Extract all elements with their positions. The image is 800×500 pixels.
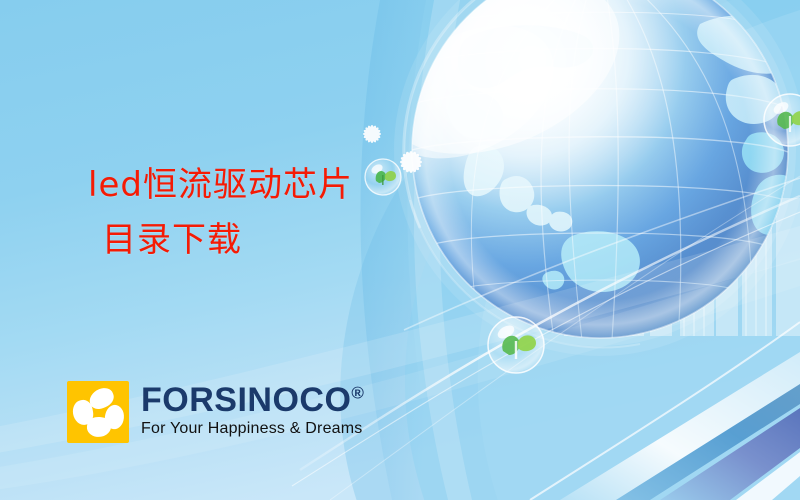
city-skyline-icon [564, 146, 800, 336]
headline-line-2: 目录下载 [88, 213, 353, 268]
flower-icon-a [400, 151, 423, 174]
four-petal-flower-icon [67, 381, 129, 443]
logo-wordmark: FORSINOCO® For Your Happiness & Dreams [141, 381, 364, 439]
ribbon-sweep [292, 176, 800, 500]
headline-line-1: led恒流驱动芯片 [88, 158, 353, 213]
bubble-center-icon [365, 159, 401, 195]
latitude-lines [412, 12, 788, 290]
continents [446, 15, 800, 292]
brand-tagline: For Your Happiness & Dreams [141, 419, 364, 439]
longitude-lines [471, 0, 752, 340]
brand-logo[interactable]: FORSINOCO® For Your Happiness & Dreams [67, 381, 364, 443]
bubble-right-icon [764, 94, 800, 146]
bubble-left-icon [488, 317, 544, 373]
headline-text: led恒流驱动芯片 目录下载 [88, 158, 353, 268]
city-skyline-detail [680, 176, 766, 336]
brand-name: FORSINOCO® [141, 383, 364, 417]
globe-graphic [353, 0, 800, 356]
brand-name-text: FORSINOCO [141, 381, 351, 419]
promo-banner: led恒流驱动芯片 目录下载 FORSINOCO® For Your Happi… [0, 0, 800, 500]
bottom-ribbons [530, 322, 800, 500]
flower-icon-b [363, 125, 381, 143]
swirl-bands [340, 0, 800, 500]
registered-trademark-icon: ® [351, 384, 364, 403]
